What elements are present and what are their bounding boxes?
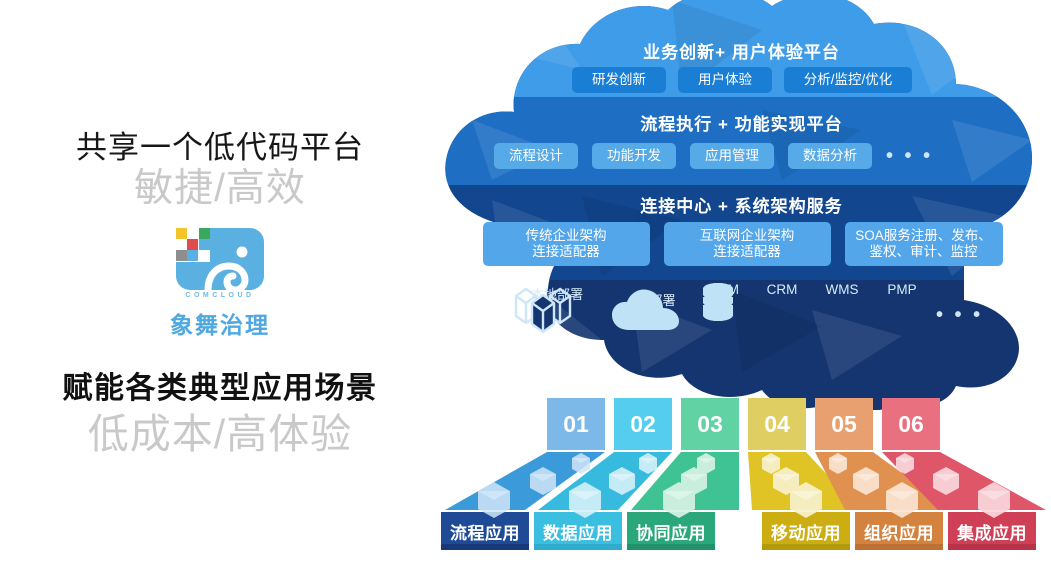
cloud-chip-row-1: 研发创新 用户体验 分析/监控/优化 <box>512 67 972 93</box>
cloud-chip[interactable]: 研发创新 <box>572 67 666 93</box>
cloud-diagram: 业务创新+ 用户体验平台 研发创新 用户体验 分析/监控/优化 流程执行 + 功… <box>432 0 1051 410</box>
ribbon-number: 01 <box>547 411 605 438</box>
cloud-chip-row-3: 传统企业架构 连接适配器 互联网企业架构 连接适配器 SOA服务注册、发布、 鉴… <box>470 222 1015 266</box>
cloud-chip[interactable]: 流程设计 <box>494 143 578 169</box>
ribbon-number: 05 <box>815 411 873 438</box>
database-label: PMP <box>878 282 926 297</box>
ribbon-label: 组织应用 <box>855 519 943 544</box>
cloud-chip[interactable]: 传统企业架构 连接适配器 <box>483 222 650 266</box>
cloud-chip[interactable]: 互联网企业架构 连接适配器 <box>664 222 831 266</box>
database-wms[interactable]: WMS <box>816 282 868 297</box>
cloud-chip[interactable]: 分析/监控/优化 <box>784 67 912 93</box>
cloud-chip[interactable]: 数据分析 <box>788 143 872 169</box>
brand-logo: COMCLOUD 象舞治理 <box>120 222 320 332</box>
cloud-layer-title-1: 业务创新+ 用户体验平台 <box>432 38 1051 63</box>
cloud-chip-line: 互联网企业架构 连接适配器 <box>700 228 795 261</box>
ribbon-number: 04 <box>748 411 806 438</box>
ribbon-label: 流程应用 <box>441 519 529 544</box>
elephant-cloud-logo-icon <box>120 222 320 302</box>
server-cubes-icon <box>512 282 574 334</box>
cloud-chip-line: 传统企业架构 连接适配器 <box>526 228 607 261</box>
cloud-chip[interactable]: 用户体验 <box>678 67 772 93</box>
ribbon-label: 移动应用 <box>762 519 850 544</box>
ribbon-number: 06 <box>882 411 940 438</box>
cloud-chip-ellipsis: • • • <box>886 145 933 168</box>
cloud-chip[interactable]: 应用管理 <box>690 143 774 169</box>
ribbon-number: 02 <box>614 411 672 438</box>
database-label: CRM <box>758 282 806 297</box>
cloud-chip[interactable]: 功能开发 <box>592 143 676 169</box>
deployment-onpremise[interactable]: 本地部署 <box>512 282 602 303</box>
cloud-chip-line: SOA服务注册、发布、 鉴权、审计、监控 <box>855 228 992 261</box>
database-row: SRM CRM WMS PMP • • • <box>700 282 983 327</box>
cloud-layer-title-2: 流程执行 + 功能实现平台 <box>432 110 1051 135</box>
database-pmp[interactable]: PMP <box>878 282 926 297</box>
ribbon-group: 01 02 03 04 05 06 流程应用 数据应用 协同应用 移动应用 组织… <box>432 388 1051 570</box>
subline-top: 敏捷/高效 <box>0 157 440 213</box>
ribbon-label: 协同应用 <box>627 519 715 544</box>
cloud-icon <box>610 288 682 334</box>
logo-latin: COMCLOUD <box>120 292 320 299</box>
ribbon-label: 数据应用 <box>534 519 622 544</box>
left-panel: 共享一个低代码平台 敏捷/高效 COMCLOUD 象舞治理 赋能各类典型应用场景… <box>0 0 440 570</box>
database-row-ellipsis: • • • <box>936 282 983 327</box>
database-crm[interactable]: CRM <box>758 282 806 297</box>
cloud-chip[interactable]: SOA服务注册、发布、 鉴权、审计、监控 <box>845 222 1003 266</box>
database-label: WMS <box>816 282 868 297</box>
subline-bottom: 低成本/高体验 <box>0 400 440 460</box>
deployment-cloud[interactable]: 云部署 <box>610 288 702 309</box>
cloud-chip-row-2: 流程设计 功能开发 应用管理 数据分析 • • • <box>494 143 994 169</box>
ribbon-number: 03 <box>681 411 739 438</box>
logo-wordmark: 象舞治理 <box>120 306 320 340</box>
ribbon-label: 集成应用 <box>948 519 1036 544</box>
cloud-layer-title-3: 连接中心 + 系统架构服务 <box>432 192 1051 217</box>
database-icon <box>700 282 736 324</box>
